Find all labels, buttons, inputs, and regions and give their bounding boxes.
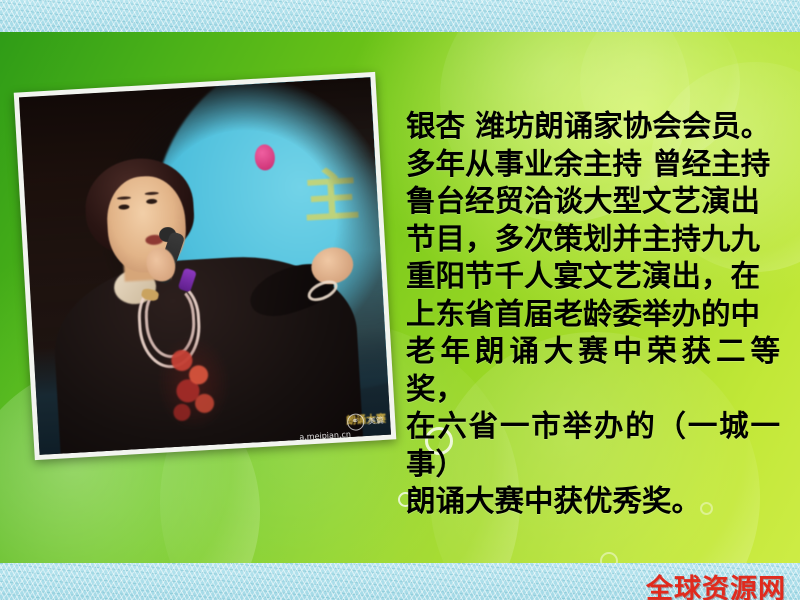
speaker-photo: 主 朗诵大赛 ⚭ [14,72,397,460]
ring-decoration [600,552,618,563]
photo-watermark-brand: 美篇 [367,415,384,427]
biography-line: 节目，多次策划并主持九九 [406,221,780,259]
biography-line: 多年从事业余主持 曾经主持 [406,146,780,184]
biography-line: 老年朗诵大赛中荣获二等奖， [406,333,780,408]
biography-line: 重阳节千人宴文艺演出，在 [406,258,780,296]
photo-watermark: ⚭ 美篇 [346,412,384,431]
biography-line: 鲁台经贸洽谈大型文艺演出 [406,183,780,221]
biography-line: 朗诵大赛中获优秀奖。 [406,483,780,521]
biography-line: 银杏 潍坊朗诵家协会会员。 [406,108,780,146]
photo-watermark-url: a.meipian.cn [299,430,351,442]
biography-line: 上东省首届老龄委举办的中 [406,296,780,334]
top-texture-band [0,0,800,33]
floral-brooch [156,333,233,433]
photo-image: 主 朗诵大赛 ⚭ [19,77,391,455]
biography-text: 银杏 潍坊朗诵家协会会员。多年从事业余主持 曾经主持鲁台经贸洽谈大型文艺演出节目… [406,108,780,521]
site-brand-watermark: 全球资源网 [646,567,786,600]
biography-line: 在六省一市举办的（一城一事） [406,408,780,483]
meipian-logo-icon: ⚭ [346,413,364,431]
slide-canvas: 主 朗诵大赛 ⚭ [0,0,800,600]
